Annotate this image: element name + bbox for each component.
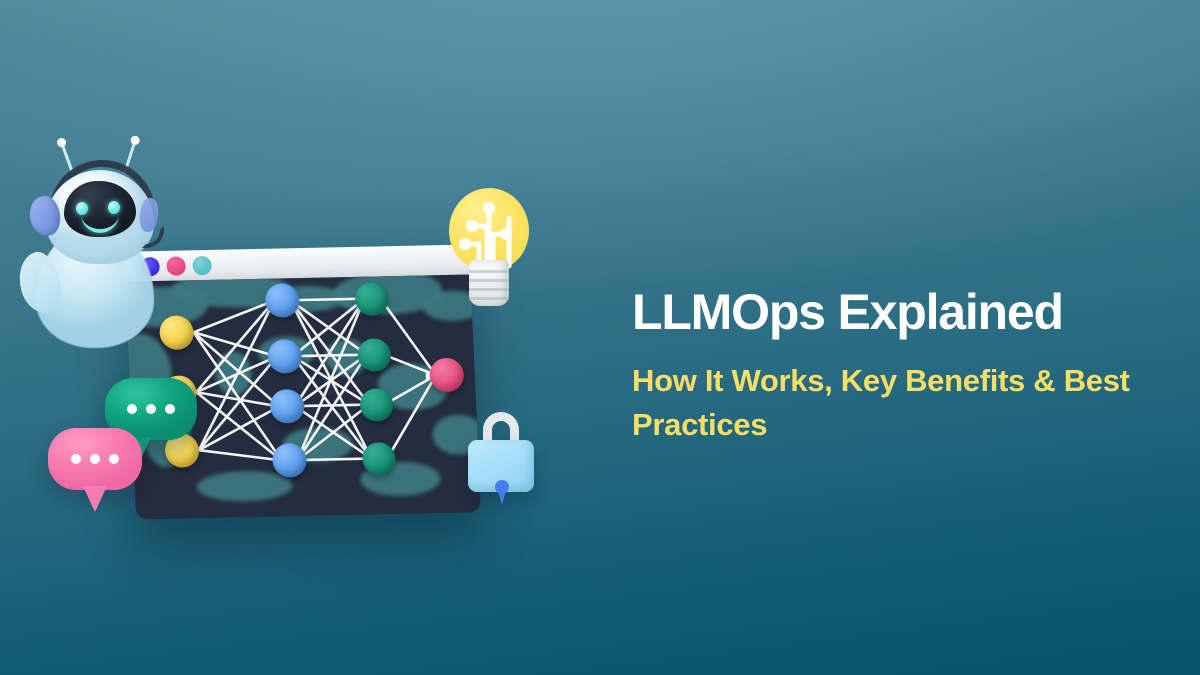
speech-bubble-pink <box>48 428 142 490</box>
typing-dot <box>146 404 156 414</box>
robot-microphone-boom <box>142 226 164 248</box>
typing-dot <box>109 454 119 464</box>
padlock-icon <box>464 412 538 494</box>
padlock-body <box>468 440 534 492</box>
lightbulb-icon <box>443 188 535 310</box>
lightbulb-circuit-traces <box>449 188 529 270</box>
typing-dot <box>90 454 100 464</box>
padlock-keyhole <box>495 480 509 494</box>
chatbot-robot <box>24 148 194 363</box>
page-title: LLMOps Explained <box>632 286 1172 339</box>
banner-canvas: LLMOps Explained How It Works, Key Benef… <box>0 0 1200 675</box>
typing-dot <box>127 404 137 414</box>
hero-text-block: LLMOps Explained How It Works, Key Benef… <box>632 286 1172 447</box>
page-subtitle: How It Works, Key Benefits & Best Practi… <box>632 359 1152 447</box>
window-dot-teal[interactable] <box>192 255 212 274</box>
hero-illustration <box>0 0 600 675</box>
robot-eye-right <box>108 201 120 214</box>
typing-dot <box>71 454 81 464</box>
typing-dot <box>165 404 175 414</box>
